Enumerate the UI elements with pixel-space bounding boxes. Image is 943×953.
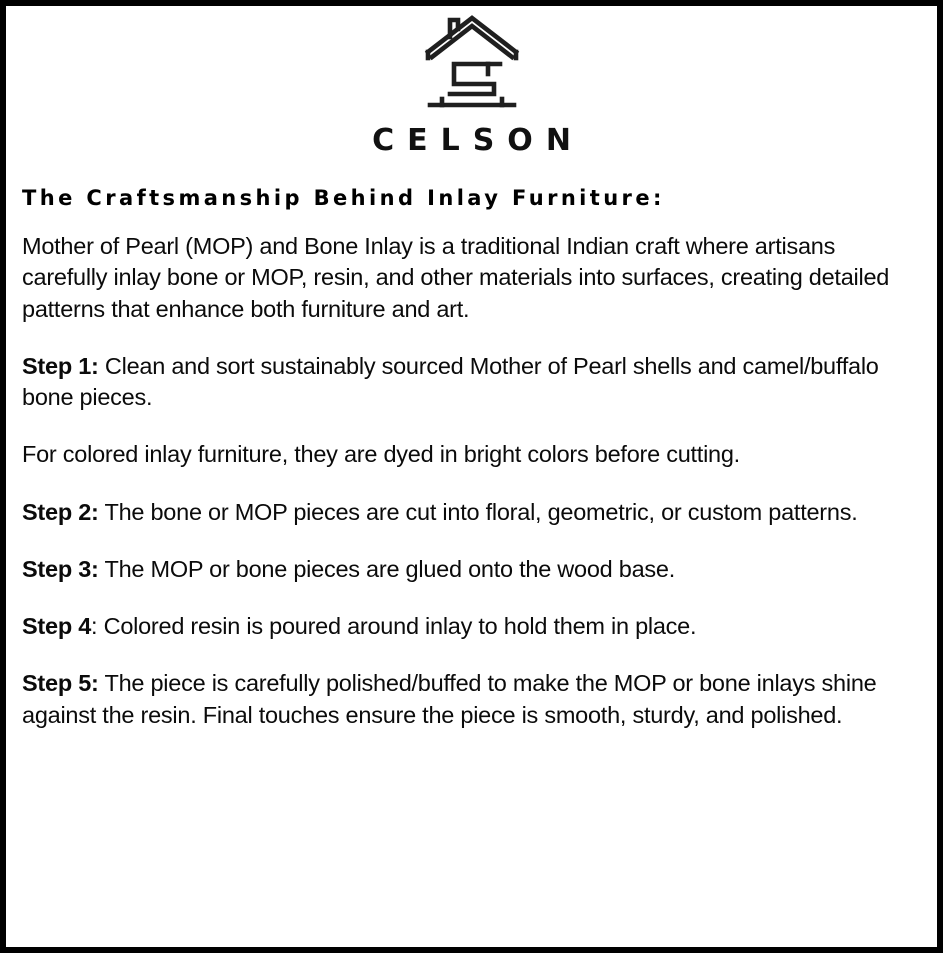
- paragraph-step-5: Step 5: The piece is carefully polished/…: [22, 668, 903, 731]
- step-2-text: The bone or MOP pieces are cut into flor…: [99, 499, 858, 525]
- step-2-colon: :: [91, 499, 99, 525]
- step-4-text: Colored resin is poured around inlay to …: [97, 613, 696, 639]
- step-2-label: Step 2: [22, 499, 91, 525]
- step-3-text: The MOP or bone pieces are glued onto th…: [99, 556, 675, 582]
- brand-header: CELSON: [16, 6, 927, 156]
- step-3-colon: :: [91, 556, 99, 582]
- brand-wordmark: CELSON: [16, 126, 927, 156]
- poster-content: CELSON The Craftsmanship Behind Inlay Fu…: [6, 6, 937, 947]
- step-4-label: Step 4: [22, 613, 91, 639]
- step-5-colon: :: [91, 670, 99, 696]
- paragraph-intro: Mother of Pearl (MOP) and Bone Inlay is …: [22, 231, 903, 325]
- intro-text: Mother of Pearl (MOP) and Bone Inlay is …: [22, 233, 889, 322]
- paragraph-color-note: For colored inlay furniture, they are dy…: [22, 439, 903, 470]
- step-5-text: The piece is carefully polished/buffed t…: [22, 670, 876, 727]
- page-title: The Craftsmanship Behind Inlay Furniture…: [16, 186, 927, 211]
- color-note-text: For colored inlay furniture, they are dy…: [22, 441, 740, 467]
- step-1-text: Clean and sort sustainably sourced Mothe…: [22, 353, 879, 410]
- poster-page: CELSON The Craftsmanship Behind Inlay Fu…: [0, 0, 943, 953]
- paragraph-step-2: Step 2: The bone or MOP pieces are cut i…: [22, 497, 903, 528]
- step-5-label: Step 5: [22, 670, 91, 696]
- step-3-label: Step 3: [22, 556, 91, 582]
- paragraph-step-3: Step 3: The MOP or bone pieces are glued…: [22, 554, 903, 585]
- paragraph-step-4: Step 4: Colored resin is poured around i…: [22, 611, 903, 642]
- house-with-s-monogram-logo: [420, 12, 524, 112]
- step-1-label: Step 1: [22, 353, 91, 379]
- step-1-colon: :: [91, 353, 99, 379]
- article-body: Mother of Pearl (MOP) and Bone Inlay is …: [16, 231, 927, 731]
- paragraph-step-1: Step 1: Clean and sort sustainably sourc…: [22, 351, 903, 414]
